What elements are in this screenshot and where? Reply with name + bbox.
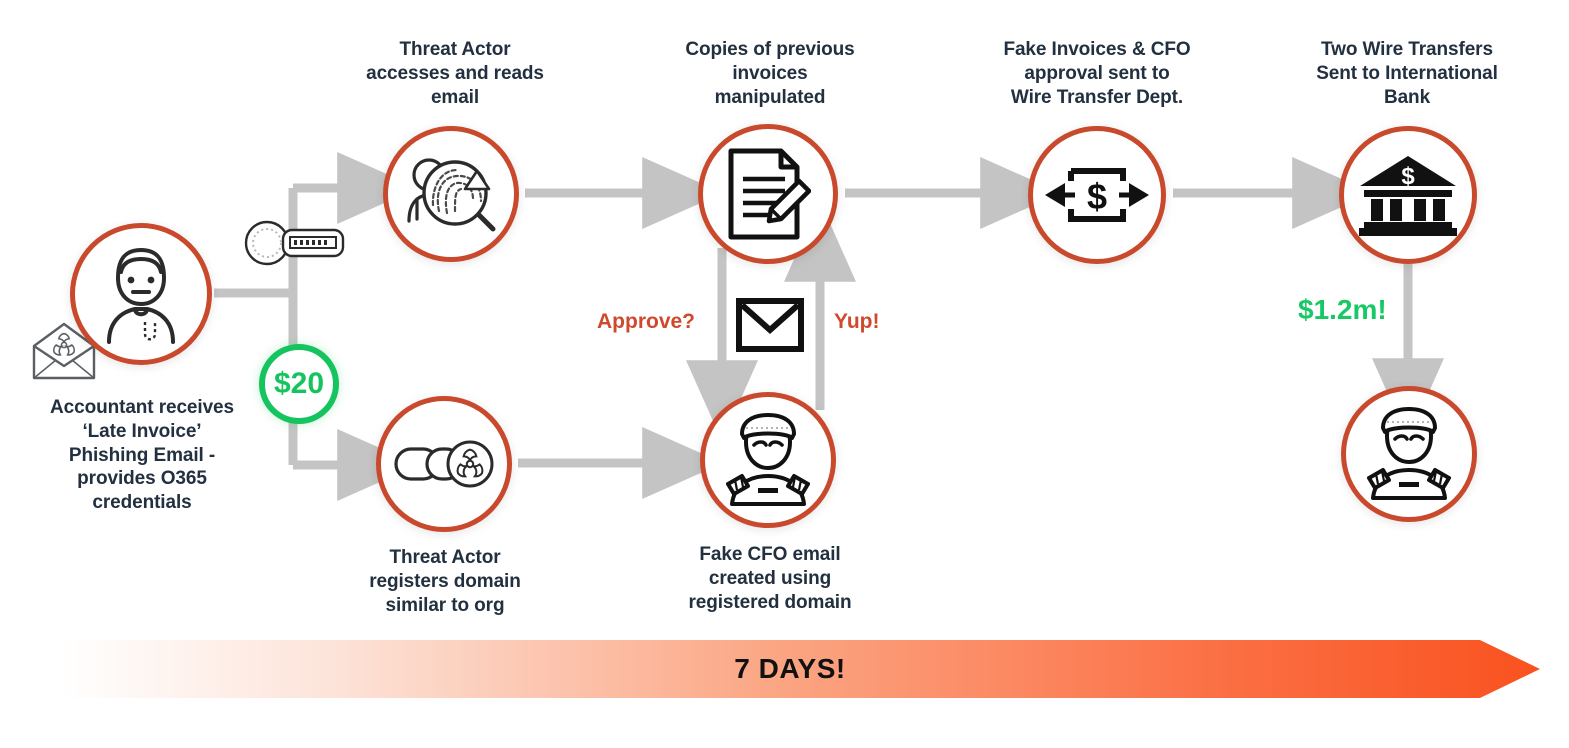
timeline-banner-text: 7 DAYS!: [60, 640, 1540, 698]
node-threat-actor-receives-funds[interactable]: [1341, 386, 1477, 522]
malicious-link-icon: [394, 436, 494, 492]
node-threat-actor-registers-domain[interactable]: [376, 396, 512, 532]
approval-answer-label: Yup!: [834, 310, 880, 334]
hacker-icon: [1359, 406, 1459, 502]
envelope-icon: [736, 298, 804, 352]
key-icon: [243, 219, 347, 267]
fingerprint-magnifier-icon: [403, 149, 499, 239]
node-threat-actor-reads-email[interactable]: [383, 126, 519, 262]
label-fake-invoices-cfo-approval: Fake Invoices & CFO approval sent to Wir…: [972, 38, 1222, 109]
phishing-cost-badge: $20: [259, 344, 339, 424]
node-wire-transfers-bank[interactable]: $: [1339, 126, 1477, 264]
label-wire-transfers-bank: Two Wire Transfers Sent to International…: [1282, 38, 1532, 109]
person-icon: [93, 242, 189, 346]
label-invoices-manipulated: Copies of previous invoices manipulated: [645, 38, 895, 109]
bank-icon: $: [1358, 152, 1458, 238]
svg-text:$: $: [1401, 163, 1415, 190]
node-invoices-manipulated[interactable]: [698, 124, 838, 264]
svg-text:$: $: [1087, 176, 1107, 217]
label-accountant: Accountant receives ‘Late Invoice’ Phish…: [12, 396, 272, 515]
bec-attack-flow-diagram: Accountant receives ‘Late Invoice’ Phish…: [0, 0, 1569, 748]
connector-layer: [0, 0, 1569, 748]
label-threat-actor-reads-email: Threat Actor accesses and reads email: [330, 38, 580, 109]
node-fake-invoices-cfo-approval[interactable]: $: [1028, 126, 1166, 264]
money-transfer-icon: $: [1043, 159, 1151, 231]
label-fake-cfo-email: Fake CFO email created using registered …: [645, 543, 895, 614]
document-edit-icon: [725, 147, 811, 241]
hacker-icon: [718, 412, 818, 508]
stolen-amount-label: $1.2m!: [1298, 294, 1387, 326]
node-accountant[interactable]: [70, 223, 212, 365]
node-fake-cfo-email[interactable]: [700, 392, 836, 528]
timeline-banner: 7 DAYS!: [60, 640, 1540, 698]
label-threat-actor-registers-domain: Threat Actor registers domain similar to…: [320, 546, 570, 617]
phishing-cost-value: $20: [274, 367, 324, 401]
approve-question-label: Approve?: [597, 310, 695, 334]
